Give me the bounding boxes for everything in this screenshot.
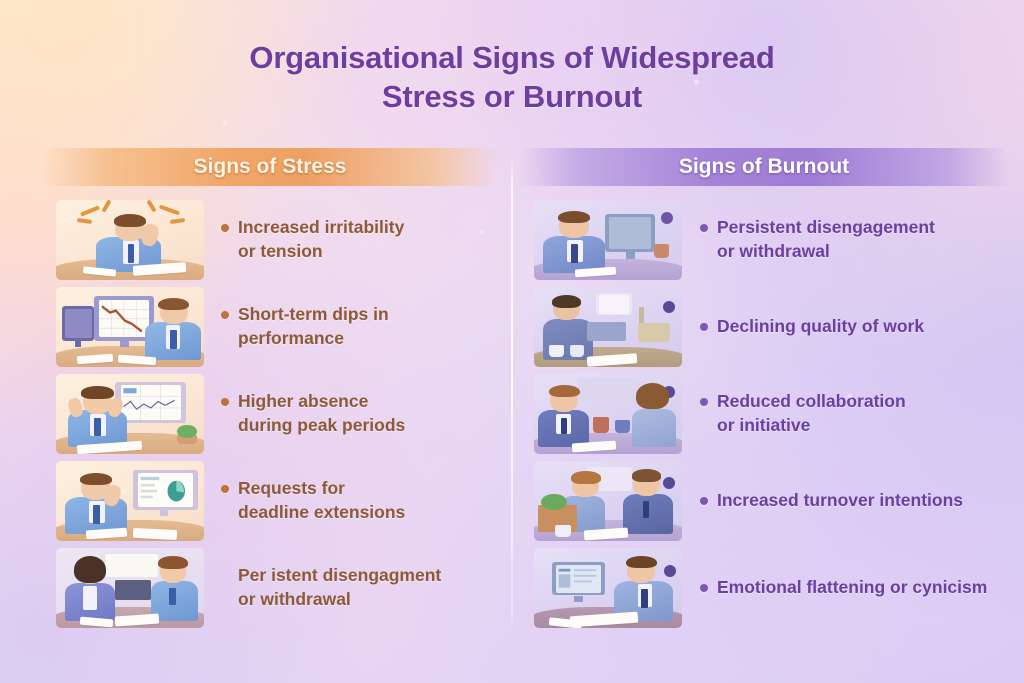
column-signs-of-stress: Signs of Stress — [0, 148, 512, 648]
heading-signs-of-stress: Signs of Stress — [42, 148, 498, 186]
burnout-item-2-label: Declining quality of work — [717, 315, 924, 338]
stress-item-list: Increased irritabilityor tension — [56, 196, 484, 631]
illustration-man-hands-on-head-whiteboard-charts-plant — [56, 374, 204, 454]
page-title: Organisational Signs of Widespread Stres… — [0, 38, 1024, 116]
columns-container: Signs of Stress — [0, 148, 1024, 648]
list-item[interactable]: Increased irritabilityor tension — [56, 196, 484, 283]
bullet-dot-icon — [700, 584, 708, 592]
infographic-canvas: Organisational Signs of Widespread Stres… — [0, 0, 1024, 683]
bullet-dot-icon — [700, 323, 708, 331]
column-signs-of-burnout: Signs of Burnout — [512, 148, 1024, 648]
illustration-man-with-monitors-declining-chart — [56, 287, 204, 367]
heading-signs-of-burnout: Signs of Burnout — [520, 148, 1008, 186]
list-item[interactable]: Short-term dips inperformance — [56, 283, 484, 370]
list-item[interactable]: Persistent disengagementor withdrawal — [534, 196, 994, 283]
illustration-man-from-behind-at-laptop-with-lamp — [534, 287, 682, 367]
stress-item-1-label: Increased irritabilityor tension — [238, 216, 404, 263]
bullet-dot-icon — [221, 398, 229, 406]
stress-item-1: Increased irritabilityor tension — [204, 216, 484, 263]
burnout-item-list: Persistent disengagementor withdrawal — [534, 196, 994, 631]
illustration-man-arms-crossed-woman-turned-away — [534, 374, 682, 454]
burnout-item-5-label: Emotional flattening or cynicism — [717, 576, 987, 599]
burnout-item-5: Emotional flattening or cynicism — [682, 576, 994, 599]
page-title-line-1: Organisational Signs of Widespread — [249, 40, 774, 75]
bullet-dot-icon — [700, 224, 708, 232]
bullet-dot-icon — [221, 485, 229, 493]
stress-item-3-label: Higher absenceduring peak periods — [238, 390, 405, 437]
list-item[interactable]: Declining quality of work — [534, 283, 994, 370]
stress-item-2-label: Short-term dips inperformance — [238, 303, 389, 350]
list-item[interactable]: Higher absenceduring peak periods — [56, 370, 484, 457]
burnout-item-4: Increased turnover intentions — [682, 489, 994, 512]
list-item[interactable]: Requests fordeadline extensions — [56, 457, 484, 544]
illustration-employee-with-packed-box-leaving — [534, 461, 682, 541]
page-title-line-2: Stress or Burnout — [382, 79, 642, 114]
burnout-item-3: Reduced collaborationor initiative — [682, 390, 994, 437]
illustration-man-at-monitor-with-pie-chart-reports — [56, 461, 204, 541]
list-item[interactable]: Emotional flattening or cynicism — [534, 544, 994, 631]
illustration-stressed-man-head-in-hand-at-desk — [56, 200, 204, 280]
stress-item-5-label: Per istent disengagmentor withdrawal — [238, 564, 441, 611]
stress-item-3: Higher absenceduring peak periods — [204, 390, 484, 437]
illustration-man-at-monitor-with-coffee — [534, 200, 682, 280]
burnout-item-2: Declining quality of work — [682, 315, 994, 338]
burnout-item-1-label: Persistent disengagementor withdrawal — [717, 216, 935, 263]
list-item[interactable]: Reduced collaborationor initiative — [534, 370, 994, 457]
stress-item-2: Short-term dips inperformance — [204, 303, 484, 350]
illustration-woman-and-man-at-desk-with-laptop — [56, 548, 204, 628]
burnout-item-4-label: Increased turnover intentions — [717, 489, 963, 512]
illustration-man-alone-at-desk-with-paperwork — [534, 548, 682, 628]
burnout-item-3-label: Reduced collaborationor initiative — [717, 390, 906, 437]
bullet-dot-icon — [221, 311, 229, 319]
stress-item-5: Per istent disengagmentor withdrawal — [204, 564, 484, 611]
stress-item-4: Requests fordeadline extensions — [204, 477, 484, 524]
list-item[interactable]: Per istent disengagmentor withdrawal — [56, 544, 484, 631]
bullet-dot-icon — [221, 224, 229, 232]
stress-item-4-label: Requests fordeadline extensions — [238, 477, 405, 524]
list-item[interactable]: Increased turnover intentions — [534, 457, 994, 544]
bullet-dot-icon — [700, 398, 708, 406]
bullet-dot-icon — [700, 497, 708, 505]
burnout-item-1: Persistent disengagementor withdrawal — [682, 216, 994, 263]
